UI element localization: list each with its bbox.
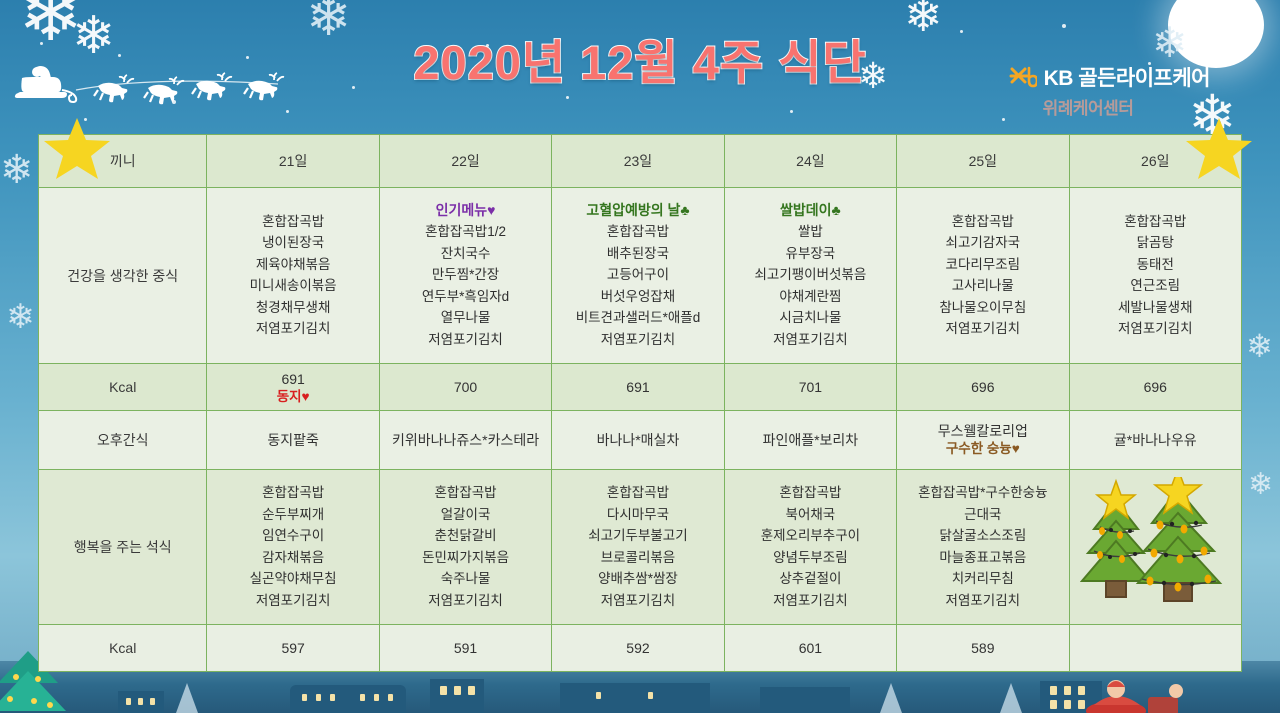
kcal-value: 691 — [552, 378, 723, 396]
snowflake-icon: ❄ — [1246, 330, 1273, 362]
corner-star-icon — [44, 116, 110, 180]
dish: 참나물오이무침 — [901, 297, 1064, 319]
kcal-value: 696 — [897, 378, 1068, 396]
lunch-kcal-22: 700 — [379, 364, 551, 411]
kcal-note: 동지♥ — [207, 388, 378, 405]
dish: 양배추쌈*쌈장 — [556, 568, 719, 590]
snack-value: 무스웰칼로리업 — [897, 422, 1068, 440]
dish: 배추된장국 — [556, 243, 719, 265]
dish: 저염포기김치 — [384, 329, 547, 351]
dish: 순두부찌개 — [211, 504, 374, 526]
dish: 혼합잡곡밥 — [556, 221, 719, 243]
dish: 열무나물 — [384, 307, 547, 329]
dish: 훈제오리부추구이 — [729, 525, 892, 547]
dish: 혼합잡곡밥 — [384, 482, 547, 504]
dish: 잔치국수 — [384, 243, 547, 265]
kcal-value: 701 — [725, 378, 896, 396]
column-header-day-24: 24일 — [724, 135, 896, 188]
dish: 연두부*흑임자d — [384, 286, 547, 308]
dish: 상추겉절이 — [729, 568, 892, 590]
dish: 저염포기김치 — [729, 590, 892, 612]
christmas-trees-icon — [1080, 477, 1230, 617]
column-header-day-25: 25일 — [897, 135, 1069, 188]
dinner-row: 행복을 주는 석식 혼합잡곡밥 순두부찌개 임연수구이 감자채볶음 실곤약야채무… — [39, 470, 1242, 625]
snack-cell-22: 키위바나나쥬스*카스테라 — [379, 411, 551, 470]
dish: 저염포기김치 — [211, 590, 374, 612]
dinner-kcal-25: 589 — [897, 625, 1069, 672]
santa-figure-icon — [1076, 667, 1196, 713]
logo-brand-text: KB 골든라이프케어 — [1044, 62, 1210, 92]
dish: 고등어구이 — [556, 264, 719, 286]
snack-cell-25: 무스웰칼로리업 구수한 숭늉♥ — [897, 411, 1069, 470]
lunch-kcal-row: Kcal 691 동지♥ 700 691 701 696 696 — [39, 364, 1242, 411]
lunch-cell-21: 혼합잡곡밥 냉이된장국 제육야채볶음 미니새송이볶음 청경채무생채 저염포기김치 — [207, 188, 379, 364]
column-header-day-23: 23일 — [552, 135, 724, 188]
dish: 쇠고기감자국 — [901, 232, 1064, 254]
dish: 야채계란찜 — [729, 286, 892, 308]
dish: 냉이된장국 — [211, 232, 374, 254]
dish: 돈민찌가지볶음 — [384, 547, 547, 569]
dish: 혼합잡곡밥 — [901, 211, 1064, 233]
snack-value: 파인애플*보리차 — [725, 431, 896, 449]
dish: 저염포기김치 — [384, 590, 547, 612]
dinner-kcal-21: 597 — [207, 625, 379, 672]
row-label-kcal: Kcal — [39, 364, 207, 411]
dinner-kcal-26 — [1069, 625, 1241, 672]
menu-tag: 인기메뉴♥ — [384, 200, 547, 220]
snack-row: 오후간식 동지팥죽 키위바나나쥬스*카스테라 바나나*매실차 파인애플*보리차 … — [39, 411, 1242, 470]
kcal-value: 691 — [207, 370, 378, 388]
dish: 저염포기김치 — [211, 318, 374, 340]
dinner-cell-25: 혼합잡곡밥*구수한숭늉 근대국 닭살굴소스조림 마늘종표고볶음 치커리무침 저염… — [897, 470, 1069, 625]
dish: 혼합잡곡밥1/2 — [384, 221, 547, 243]
dish: 버섯우엉잡채 — [556, 286, 719, 308]
row-label-lunch: 건강을 생각한 중식 — [39, 188, 207, 364]
snack-cell-23: 바나나*매실차 — [552, 411, 724, 470]
dish: 저염포기김치 — [1074, 318, 1237, 340]
lunch-kcal-24: 701 — [724, 364, 896, 411]
dish: 청경채무생채 — [211, 297, 374, 319]
dinner-cell-23: 혼합잡곡밥 다시마무국 쇠고기두부불고기 브로콜리볶음 양배추쌈*쌈장 저염포기… — [552, 470, 724, 625]
table-header-row: 끼니 21일 22일 23일 24일 25일 26일 — [39, 135, 1242, 188]
dish: 비트견과샐러드*애플d — [556, 307, 719, 329]
dish: 저염포기김치 — [901, 590, 1064, 612]
dish: 혼합잡곡밥*구수한숭늉 — [901, 482, 1064, 504]
column-header-day-22: 22일 — [379, 135, 551, 188]
dinner-kcal-24: 601 — [724, 625, 896, 672]
dinner-cell-21: 혼합잡곡밥 순두부찌개 임연수구이 감자채볶음 실곤약야채무침 저염포기김치 — [207, 470, 379, 625]
dish: 임연수구이 — [211, 525, 374, 547]
dish: 고사리나물 — [901, 275, 1064, 297]
dinner-kcal-row: Kcal 597 591 592 601 589 — [39, 625, 1242, 672]
kcal-value: 700 — [380, 378, 551, 396]
corner-star-icon — [1186, 116, 1252, 180]
column-header-day-21: 21일 — [207, 135, 379, 188]
brand-logo: KB 골든라이프케어 위례케어센터 — [1009, 62, 1210, 119]
dish: 근대국 — [901, 504, 1064, 526]
snack-note: 구수한 숭늉♥ — [897, 440, 1068, 458]
dish: 브로콜리볶음 — [556, 547, 719, 569]
dish: 춘천닭갈비 — [384, 525, 547, 547]
dish: 혼합잡곡밥 — [556, 482, 719, 504]
dinner-kcal-23: 592 — [552, 625, 724, 672]
snack-value: 바나나*매실차 — [552, 431, 723, 449]
dish: 저염포기김치 — [901, 318, 1064, 340]
dish: 다시마무국 — [556, 504, 719, 526]
dish: 혼합잡곡밥 — [1074, 211, 1237, 233]
lunch-cell-22: 인기메뉴♥ 혼합잡곡밥1/2 잔치국수 만두찜*간장 연두부*흑임자d 열무나물… — [379, 188, 551, 364]
dinner-kcal-22: 591 — [379, 625, 551, 672]
dinner-cell-24: 혼합잡곡밥 북어채국 훈제오리부추구이 양념두부조림 상추겉절이 저염포기김치 — [724, 470, 896, 625]
dish: 북어채국 — [729, 504, 892, 526]
dish: 치커리무침 — [901, 568, 1064, 590]
dish: 유부장국 — [729, 243, 892, 265]
dish: 쇠고기팽이버섯볶음 — [729, 264, 892, 286]
dish: 마늘종표고볶음 — [901, 547, 1064, 569]
menu-table-wrapper: 끼니 21일 22일 23일 24일 25일 26일 건강을 생각한 중식 혼합… — [38, 134, 1242, 672]
menu-tag: 고혈압예방의 날♣ — [556, 200, 719, 220]
lunch-cell-26: 혼합잡곡밥 닭곰탕 동태전 연근조림 세발나물생채 저염포기김치 — [1069, 188, 1241, 364]
snack-value: 귤*바나나우유 — [1070, 431, 1241, 449]
dish: 혼합잡곡밥 — [211, 211, 374, 233]
christmas-trees-decoration — [1070, 477, 1241, 617]
snack-cell-21: 동지팥죽 — [207, 411, 379, 470]
dish: 저염포기김치 — [729, 329, 892, 351]
dish: 닭살굴소스조림 — [901, 525, 1064, 547]
dish: 미니새송이볶음 — [211, 275, 374, 297]
row-label-dinner: 행복을 주는 석식 — [39, 470, 207, 625]
dish: 혼합잡곡밥 — [211, 482, 374, 504]
row-label-snack: 오후간식 — [39, 411, 207, 470]
lunch-kcal-25: 696 — [897, 364, 1069, 411]
weekly-menu-table: 끼니 21일 22일 23일 24일 25일 26일 건강을 생각한 중식 혼합… — [38, 134, 1242, 672]
dish: 쇠고기두부불고기 — [556, 525, 719, 547]
dish: 닭곰탕 — [1074, 232, 1237, 254]
dish: 코다리무조림 — [901, 254, 1064, 276]
snowflake-icon: ❄ — [6, 300, 35, 334]
dish: 혼합잡곡밥 — [729, 482, 892, 504]
lunch-cell-23: 고혈압예방의 날♣ 혼합잡곡밥 배추된장국 고등어구이 버섯우엉잡채 비트견과샐… — [552, 188, 724, 364]
dish: 숙주나물 — [384, 568, 547, 590]
snack-value: 동지팥죽 — [207, 431, 378, 449]
dish: 연근조림 — [1074, 275, 1237, 297]
lunch-kcal-21: 691 동지♥ — [207, 364, 379, 411]
snowflake-icon: ❄ — [0, 150, 34, 190]
dinner-cell-26 — [1069, 470, 1241, 625]
snowflake-icon: ❄ — [1248, 470, 1273, 500]
dish: 얼갈이국 — [384, 504, 547, 526]
snack-value: 키위바나나쥬스*카스테라 — [380, 431, 551, 449]
lunch-kcal-23: 691 — [552, 364, 724, 411]
kb-star-icon — [1009, 65, 1037, 89]
dish: 감자채볶음 — [211, 547, 374, 569]
dish: 시금치나물 — [729, 307, 892, 329]
dish: 세발나물생채 — [1074, 297, 1237, 319]
snack-cell-26: 귤*바나나우유 — [1069, 411, 1241, 470]
row-label-kcal: Kcal — [39, 625, 207, 672]
dish: 실곤약야채무침 — [211, 568, 374, 590]
lunch-cell-25: 혼합잡곡밥 쇠고기감자국 코다리무조림 고사리나물 참나물오이무침 저염포기김치 — [897, 188, 1069, 364]
dish: 동태전 — [1074, 254, 1237, 276]
dish: 저염포기김치 — [556, 590, 719, 612]
dish: 쌀밥 — [729, 221, 892, 243]
menu-tag: 쌀밥데이♣ — [729, 200, 892, 220]
lunch-row: 건강을 생각한 중식 혼합잡곡밥 냉이된장국 제육야채볶음 미니새송이볶음 청경… — [39, 188, 1242, 364]
dish: 제육야채볶음 — [211, 254, 374, 276]
dinner-cell-22: 혼합잡곡밥 얼갈이국 춘천닭갈비 돈민찌가지볶음 숙주나물 저염포기김치 — [379, 470, 551, 625]
kcal-value: 696 — [1070, 378, 1241, 396]
lunch-kcal-26: 696 — [1069, 364, 1241, 411]
dish: 양념두부조림 — [729, 547, 892, 569]
dish: 만두찜*간장 — [384, 264, 547, 286]
lunch-cell-24: 쌀밥데이♣ 쌀밥 유부장국 쇠고기팽이버섯볶음 야채계란찜 시금치나물 저염포기… — [724, 188, 896, 364]
dish: 저염포기김치 — [556, 329, 719, 351]
snack-cell-24: 파인애플*보리차 — [724, 411, 896, 470]
logo-center-text: 위례케어센터 — [1043, 94, 1210, 119]
